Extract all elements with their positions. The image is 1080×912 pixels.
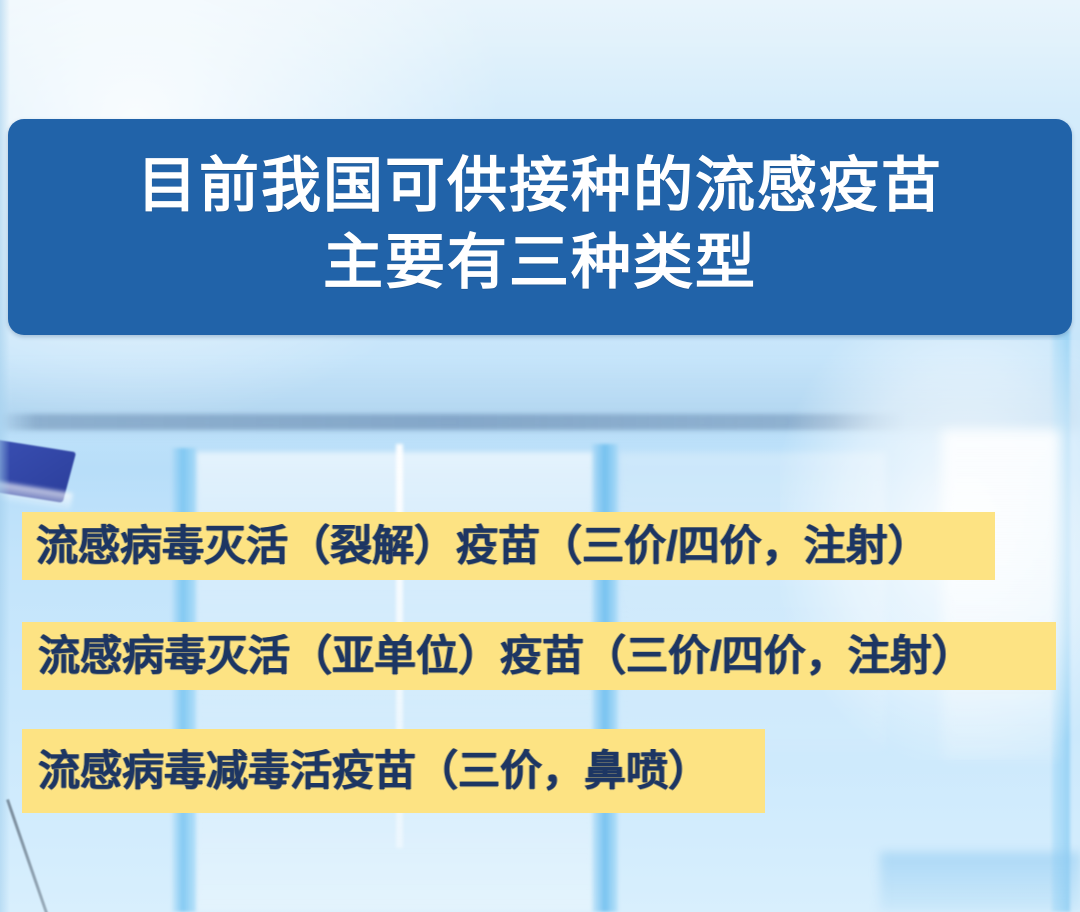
background-floor-shade <box>880 852 1080 912</box>
title-card: 目前我国可供接种的流感疫苗 主要有三种类型 <box>8 119 1072 335</box>
title-line-1: 目前我国可供接种的流感疫苗 <box>137 151 943 222</box>
poster-root: 目前我国可供接种的流感疫苗 主要有三种类型 流感病毒灭活（裂解）疫苗（三价/四价… <box>0 0 1080 912</box>
vaccine-row-inactivated-split: 流感病毒灭活（裂解）疫苗（三价/四价，注射） <box>22 512 995 580</box>
vaccine-row-label: 流感病毒减毒活疫苗（三价，鼻喷） <box>38 750 710 792</box>
vaccine-row-live-attenuated: 流感病毒减毒活疫苗（三价，鼻喷） <box>22 729 765 813</box>
vaccine-row-label: 流感病毒灭活（亚单位）疫苗（三价/四价，注射） <box>38 635 974 677</box>
background-window-light <box>942 430 1060 760</box>
vaccine-row-inactivated-subunit: 流感病毒灭活（亚单位）疫苗（三价/四价，注射） <box>22 622 1056 690</box>
background-ceiling-line <box>0 414 905 430</box>
title-line-2: 主要有三种类型 <box>323 228 757 299</box>
vaccine-row-label: 流感病毒灭活（裂解）疫苗（三价/四价，注射） <box>36 525 930 567</box>
